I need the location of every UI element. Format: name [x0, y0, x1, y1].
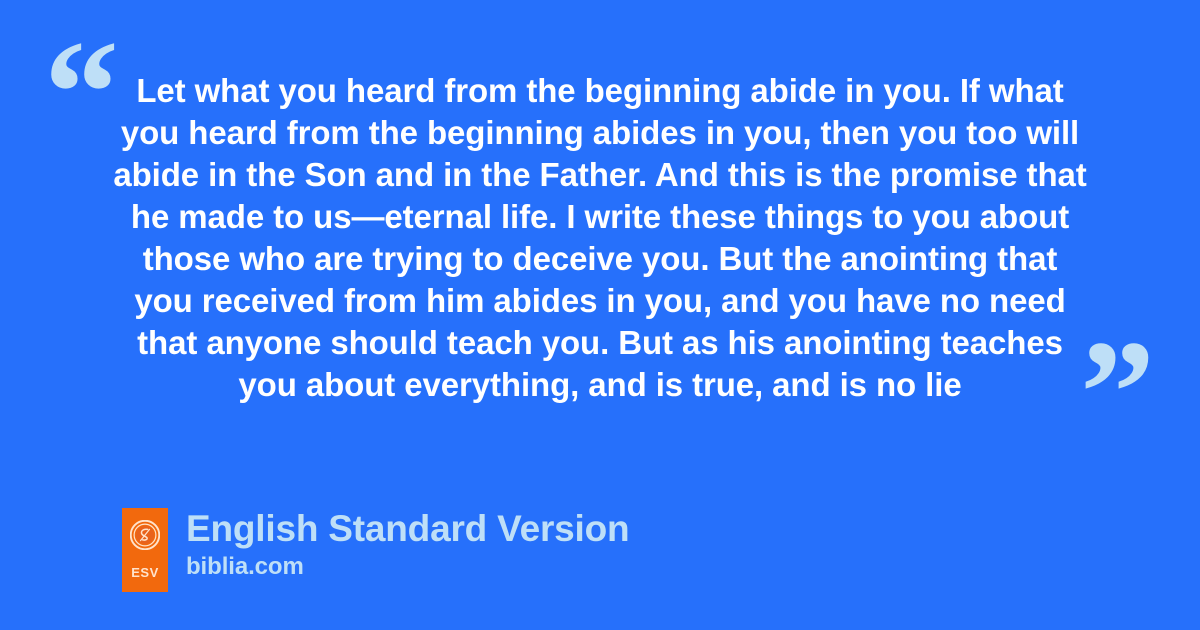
quote-line: abide in the Son and in the Father. And … [112, 154, 1088, 196]
esv-seal-icon [130, 520, 160, 550]
quote-line: you heard from the beginning abides in y… [112, 112, 1088, 154]
closing-quote-icon: ” [1080, 318, 1155, 468]
bible-version-name: English Standard Version [186, 508, 629, 550]
footer-attribution: ESV English Standard Version biblia.com [122, 508, 629, 592]
site-name: biblia.com [186, 552, 629, 582]
esv-logo-label: ESV [131, 566, 159, 579]
quote-card: “ Let what you heard from the beginning … [0, 0, 1200, 630]
quote-line: he made to us—eternal life. I write thes… [112, 196, 1088, 238]
quote-text-block: Let what you heard from the beginning ab… [112, 70, 1088, 406]
quote-line: those who are trying to deceive you. But… [112, 238, 1088, 280]
esv-logo: ESV [122, 508, 168, 592]
footer-text-group: English Standard Version biblia.com [186, 508, 629, 582]
quote-line: that anyone should teach you. But as his… [112, 322, 1088, 364]
quote-line: you received from him abides in you, and… [112, 280, 1088, 322]
opening-quote-icon: “ [44, 18, 119, 168]
quote-line: Let what you heard from the beginning ab… [112, 70, 1088, 112]
quote-line: you about everything, and is true, and i… [112, 364, 1088, 406]
